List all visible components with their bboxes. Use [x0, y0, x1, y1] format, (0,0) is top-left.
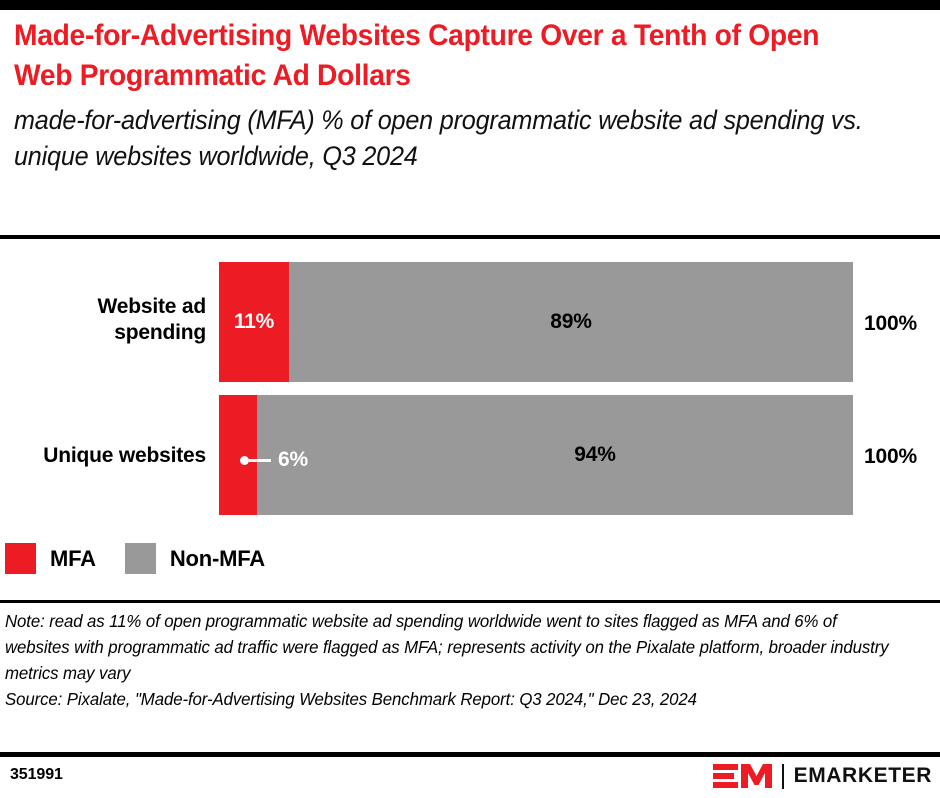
bar-segment-mfa-website-ad-spending[interactable]: 11%	[219, 262, 289, 382]
emarketer-wordmark: EMARKETER	[794, 764, 932, 788]
em-monogram-icon	[713, 763, 773, 789]
emarketer-logo[interactable]: EMARKETER	[713, 763, 932, 789]
row-total-website-ad-spending: 100%	[864, 312, 940, 336]
legend-swatch-mfa	[5, 543, 36, 574]
bar-value-mfa-website-ad-spending: 11%	[234, 310, 274, 334]
top-rule	[0, 0, 940, 10]
stacked-bar-website-ad-spending: 11% 89%	[219, 262, 853, 382]
note-divider-rule	[0, 600, 940, 603]
legend-item-mfa[interactable]: MFA	[5, 543, 96, 574]
chart-legend: MFA Non-MFA	[5, 543, 294, 574]
legend-label-non-mfa: Non-MFA	[170, 546, 265, 572]
note-text: Note: read as 11% of open programmatic w…	[5, 608, 893, 686]
legend-label-mfa: MFA	[50, 546, 96, 572]
bar-value-non-mfa-website-ad-spending: 89%	[550, 310, 591, 334]
legend-item-non-mfa[interactable]: Non-MFA	[125, 543, 265, 574]
chart-id: 351991	[10, 766, 63, 784]
chart-footer: 351991 EMARKETER	[0, 757, 940, 793]
row-label-website-ad-spending: Website ad spending	[0, 294, 206, 345]
source-text: Source: Pixalate, "Made-for-Advertising …	[5, 686, 893, 712]
chart-card: Made-for-Advertising Websites Capture Ov…	[0, 0, 940, 798]
bar-segment-non-mfa-unique-websites[interactable]: 94%	[257, 395, 853, 515]
chart-subtitle: made-for-advertising (MFA) % of open pro…	[14, 103, 869, 175]
chart-title: Made-for-Advertising Websites Capture Ov…	[14, 16, 860, 96]
plot-area: Website ad spending 11% 89% 100% Unique …	[0, 239, 940, 529]
stacked-bar-unique-websites: 94% 6%	[219, 395, 853, 515]
chart-header: Made-for-Advertising Websites Capture Ov…	[14, 16, 914, 174]
legend-swatch-non-mfa	[125, 543, 156, 574]
logo-divider	[782, 764, 784, 789]
row-total-unique-websites: 100%	[864, 445, 940, 469]
bar-segment-non-mfa-website-ad-spending[interactable]: 89%	[289, 262, 853, 382]
bar-value-non-mfa-unique-websites: 94%	[574, 443, 615, 467]
chart-notes: Note: read as 11% of open programmatic w…	[5, 608, 930, 712]
row-label-unique-websites: Unique websites	[0, 443, 206, 469]
bar-segment-mfa-unique-websites[interactable]	[219, 395, 257, 515]
